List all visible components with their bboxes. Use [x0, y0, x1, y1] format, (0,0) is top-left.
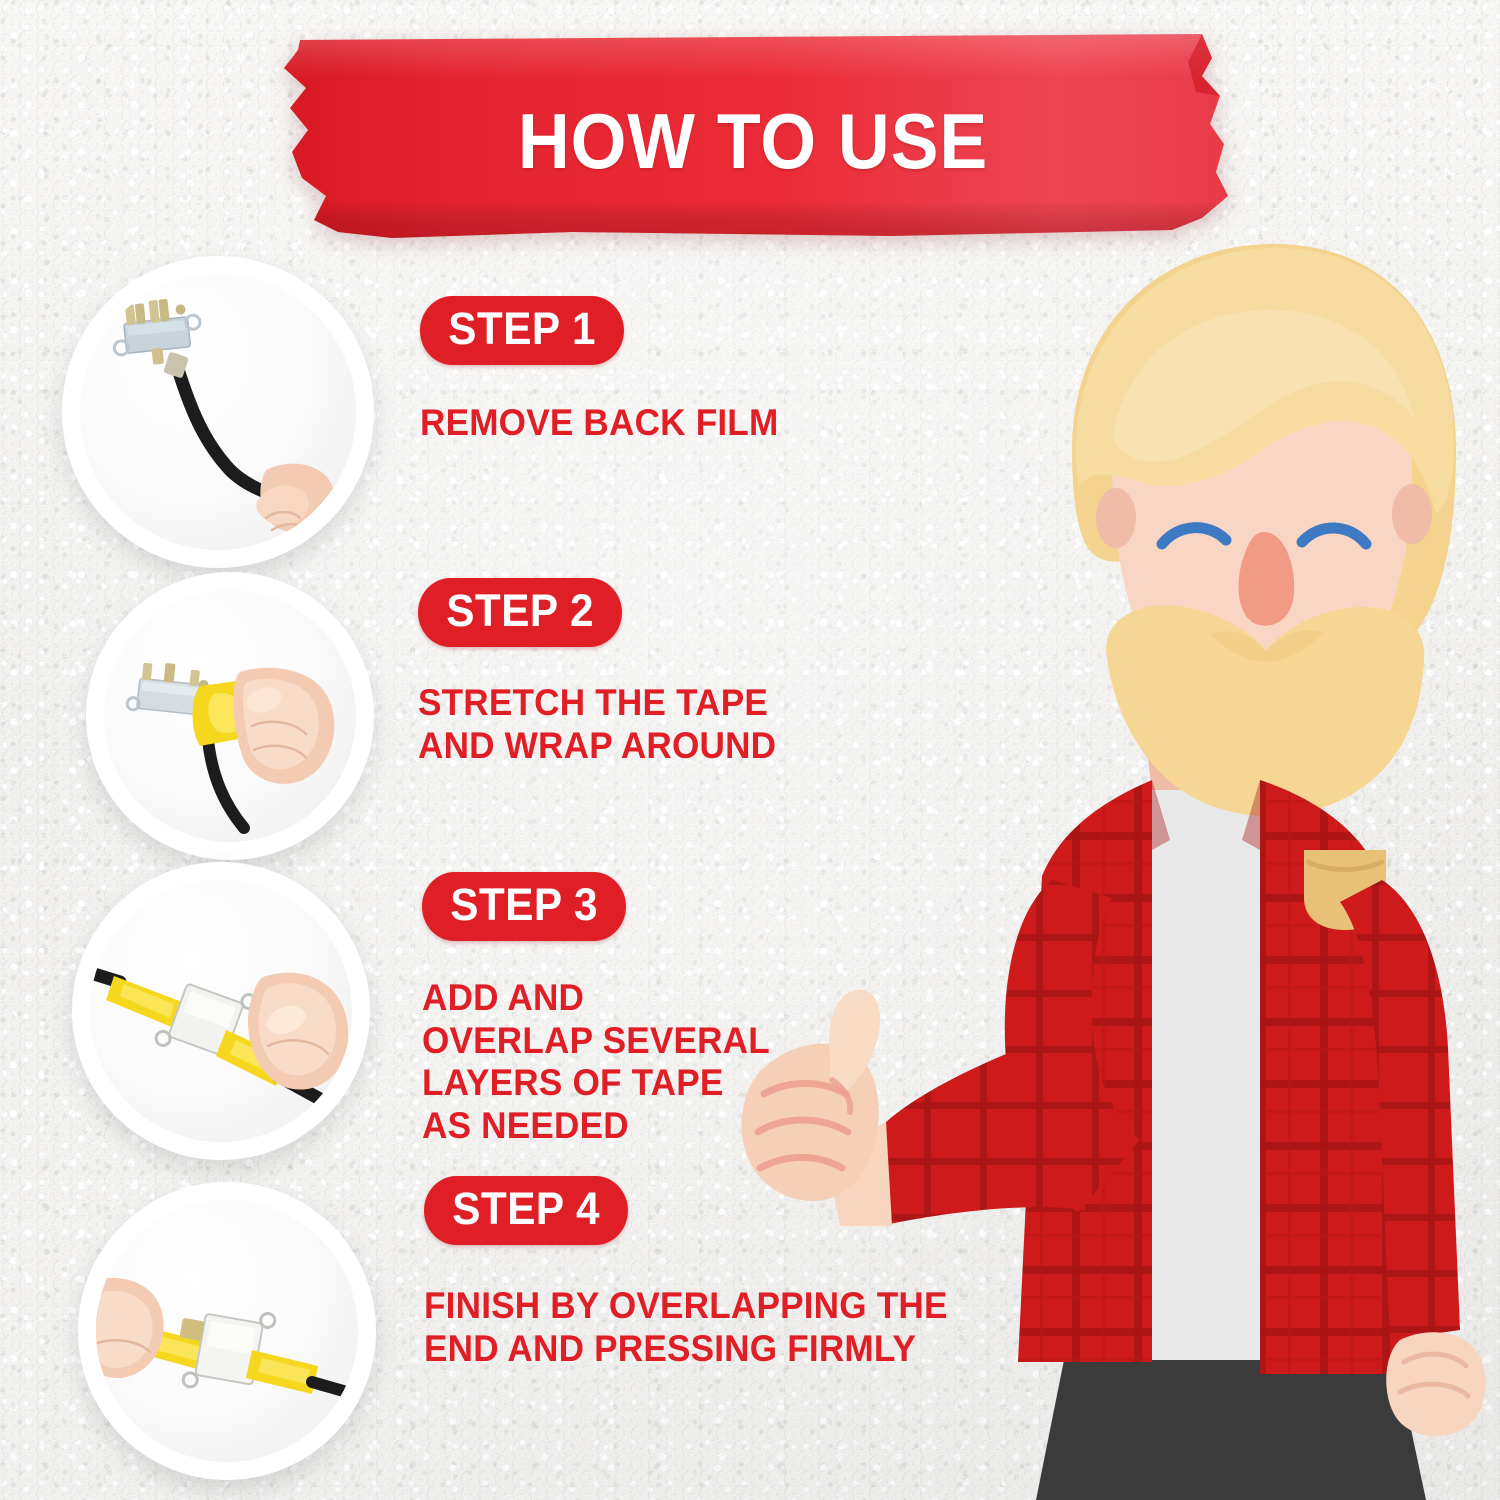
step-4-photo	[78, 1182, 376, 1480]
step-1-photo	[62, 256, 374, 568]
character-illustration	[700, 150, 1500, 1500]
step-3-photo	[72, 862, 370, 1160]
step-1-badge: STEP 1	[420, 296, 624, 365]
thumbs-up-hand	[742, 990, 880, 1201]
right-hand	[1386, 1332, 1485, 1436]
step-3-badge: STEP 3	[422, 872, 626, 941]
step-2-photo	[86, 572, 374, 860]
infographic-page: HOW TO USE	[0, 0, 1500, 1500]
step-4-badge: STEP 4	[424, 1176, 628, 1245]
step-2-badge: STEP 2	[418, 578, 622, 647]
